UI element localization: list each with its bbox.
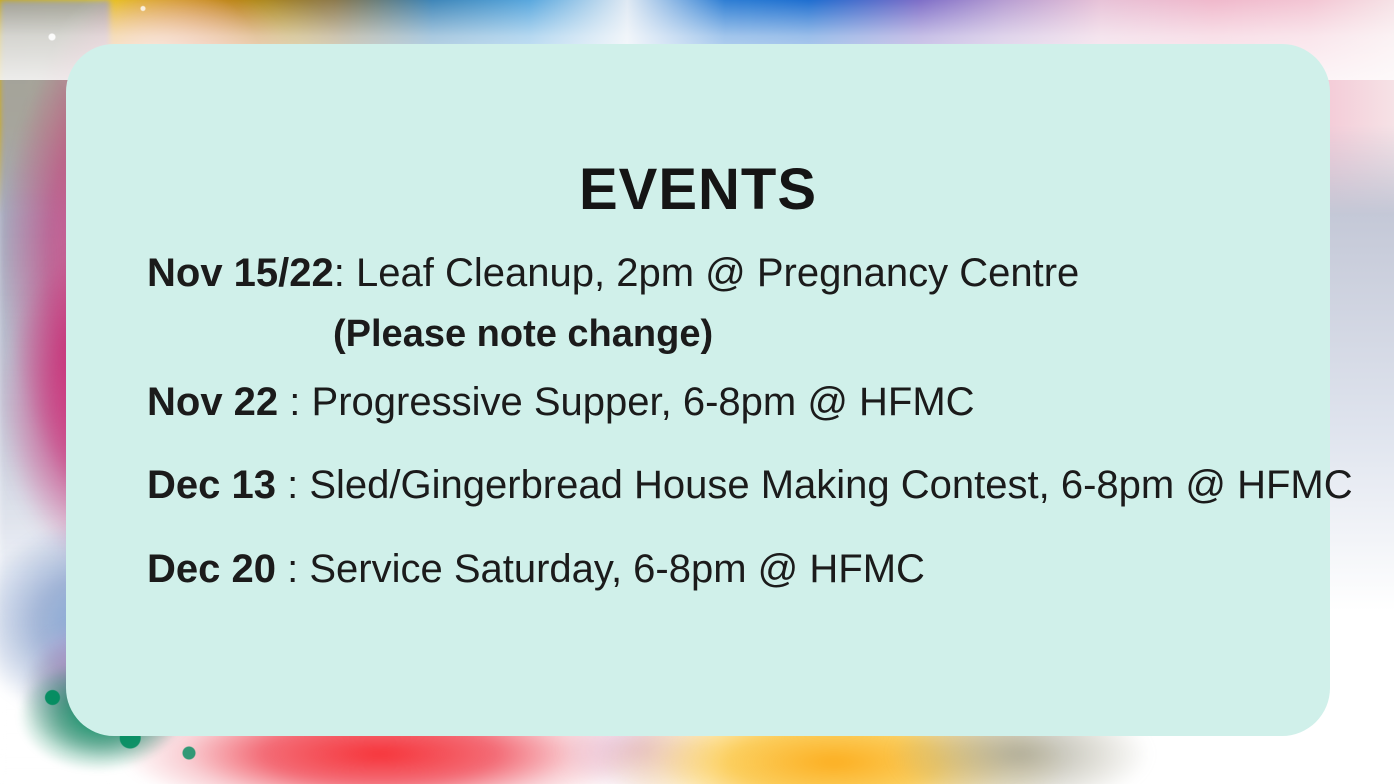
events-list: Nov 15/22: Leaf Cleanup, 2pm @ Pregnancy… xyxy=(66,253,1330,590)
event-date: Nov 22 xyxy=(147,380,278,424)
event-note: (Please note change) xyxy=(147,313,1330,356)
event-separator: : xyxy=(334,251,345,295)
list-item: Nov 15/22: Leaf Cleanup, 2pm @ Pregnancy… xyxy=(147,253,1330,295)
event-date: Nov 15/22 xyxy=(147,251,334,295)
event-separator: : xyxy=(276,547,298,591)
event-description: Service Saturday, 6-8pm @ HFMC xyxy=(298,547,925,591)
page-title: EVENTS xyxy=(66,161,1330,219)
event-separator: : xyxy=(276,463,298,507)
event-description: Sled/Gingerbread House Making Contest, 6… xyxy=(298,463,1352,507)
event-date: Dec 13 xyxy=(147,463,276,507)
list-item: Dec 13 : Sled/Gingerbread House Making C… xyxy=(147,465,1330,507)
list-item: Dec 20 : Service Saturday, 6-8pm @ HFMC xyxy=(147,549,1330,591)
spacer xyxy=(147,356,1330,382)
events-card: EVENTS Nov 15/22: Leaf Cleanup, 2pm @ Pr… xyxy=(66,44,1330,736)
event-description: Progressive Supper, 6-8pm @ HFMC xyxy=(300,380,974,424)
events-slide: EVENTS Nov 15/22: Leaf Cleanup, 2pm @ Pr… xyxy=(0,0,1394,784)
event-description: Leaf Cleanup, 2pm @ Pregnancy Centre xyxy=(345,251,1079,295)
event-separator: : xyxy=(278,380,300,424)
event-date: Dec 20 xyxy=(147,547,276,591)
list-item: Nov 22 : Progressive Supper, 6-8pm @ HFM… xyxy=(147,382,1330,424)
